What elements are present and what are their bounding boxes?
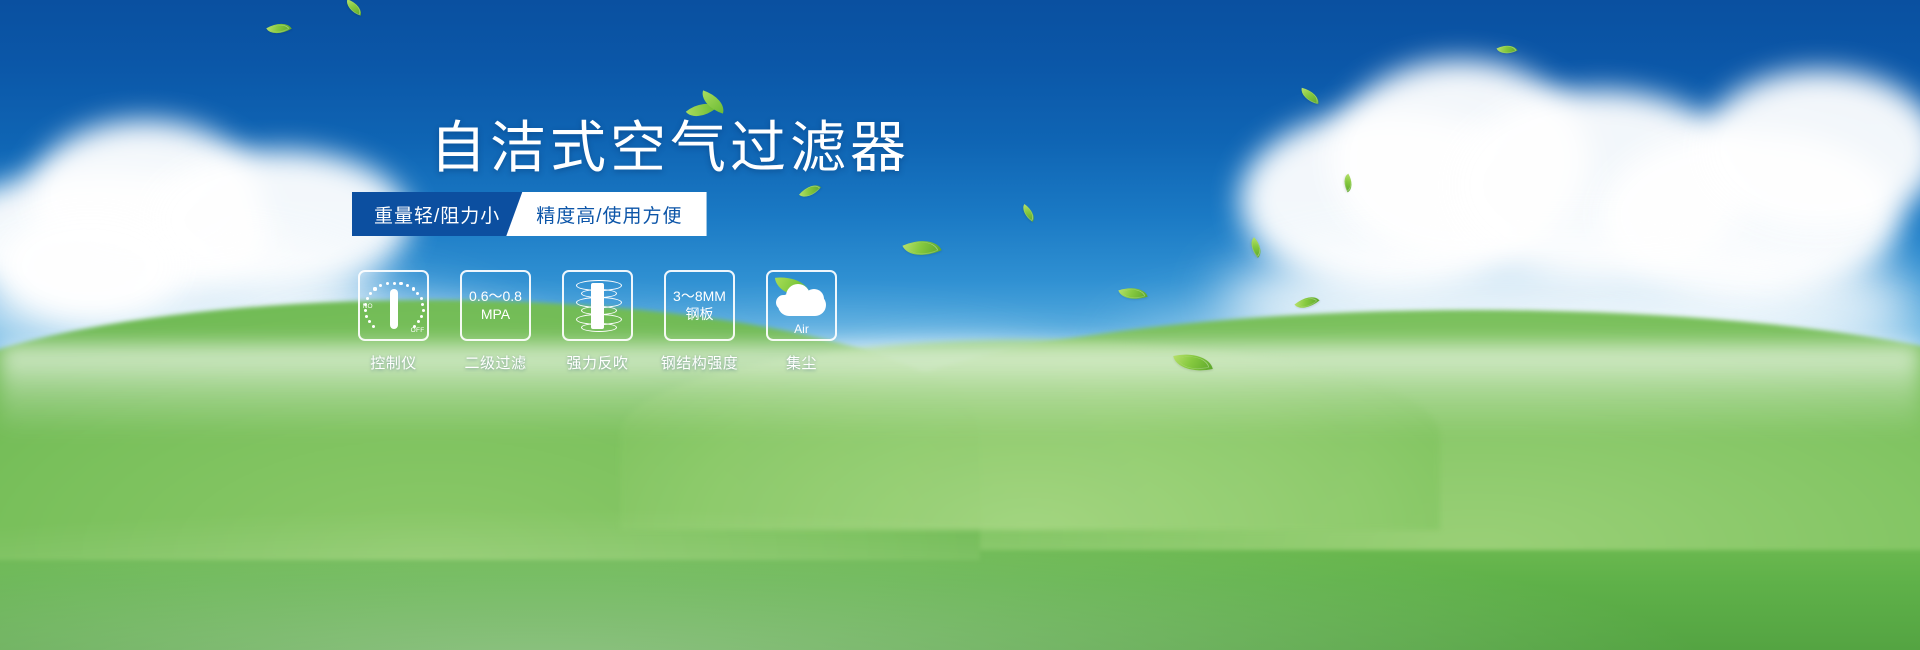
dial-needle <box>390 289 398 329</box>
feature-item[interactable]: 3～8MM 钢板 钢结构强度 <box>663 270 736 373</box>
control-dial-icon: NO OFF <box>364 277 424 335</box>
page-title: 自洁式空气过滤器 <box>430 120 910 176</box>
feature-item[interactable]: NO OFF 控制仪 <box>357 270 430 373</box>
feature-label: 强力反吹 <box>566 352 628 373</box>
dial-label-no: NO <box>363 303 373 310</box>
feature-icon-box: NO OFF <box>358 270 429 341</box>
feature-item[interactable]: 强力反吹 <box>561 270 634 373</box>
pressure-text-icon: 0.6～0.8 MPA <box>469 288 522 323</box>
subtitle-tag-secondary: 精度高/使用方便 <box>506 192 706 236</box>
dial-label-off: OFF <box>411 327 425 334</box>
air-label: Air <box>772 322 832 336</box>
feature-icon-box: Air <box>766 270 837 341</box>
air-cloud-icon: Air <box>772 278 832 334</box>
subtitle-tag-primary: 重量轻/阻力小 <box>352 192 522 236</box>
feature-label: 控制仪 <box>370 352 417 373</box>
feature-item[interactable]: 0.6～0.8 MPA 二级过滤 <box>459 270 532 373</box>
feature-icon-box: 0.6～0.8 MPA <box>460 270 531 341</box>
banner-content: 自洁式空气过滤器 重量轻/阻力小 精度高/使用方便 <box>0 0 1920 650</box>
steel-plate-text-icon: 3～8MM 钢板 <box>673 288 726 323</box>
subtitle-tag-group: 重量轻/阻力小 精度高/使用方便 <box>352 192 707 236</box>
feature-icon-list: NO OFF 控制仪 0.6～0.8 MPA 二级过滤 <box>357 270 838 373</box>
title-leaf-icon <box>688 92 724 120</box>
feature-label: 钢结构强度 <box>661 352 739 373</box>
feature-icon-box <box>562 270 633 341</box>
feature-item[interactable]: Air 集尘 <box>765 270 838 373</box>
feature-label: 集尘 <box>786 352 817 373</box>
filter-cartridge-icon <box>574 279 622 333</box>
feature-label: 二级过滤 <box>464 352 526 373</box>
product-hero-banner: 自洁式空气过滤器 重量轻/阻力小 精度高/使用方便 <box>0 0 1920 650</box>
feature-icon-box: 3～8MM 钢板 <box>664 270 735 341</box>
